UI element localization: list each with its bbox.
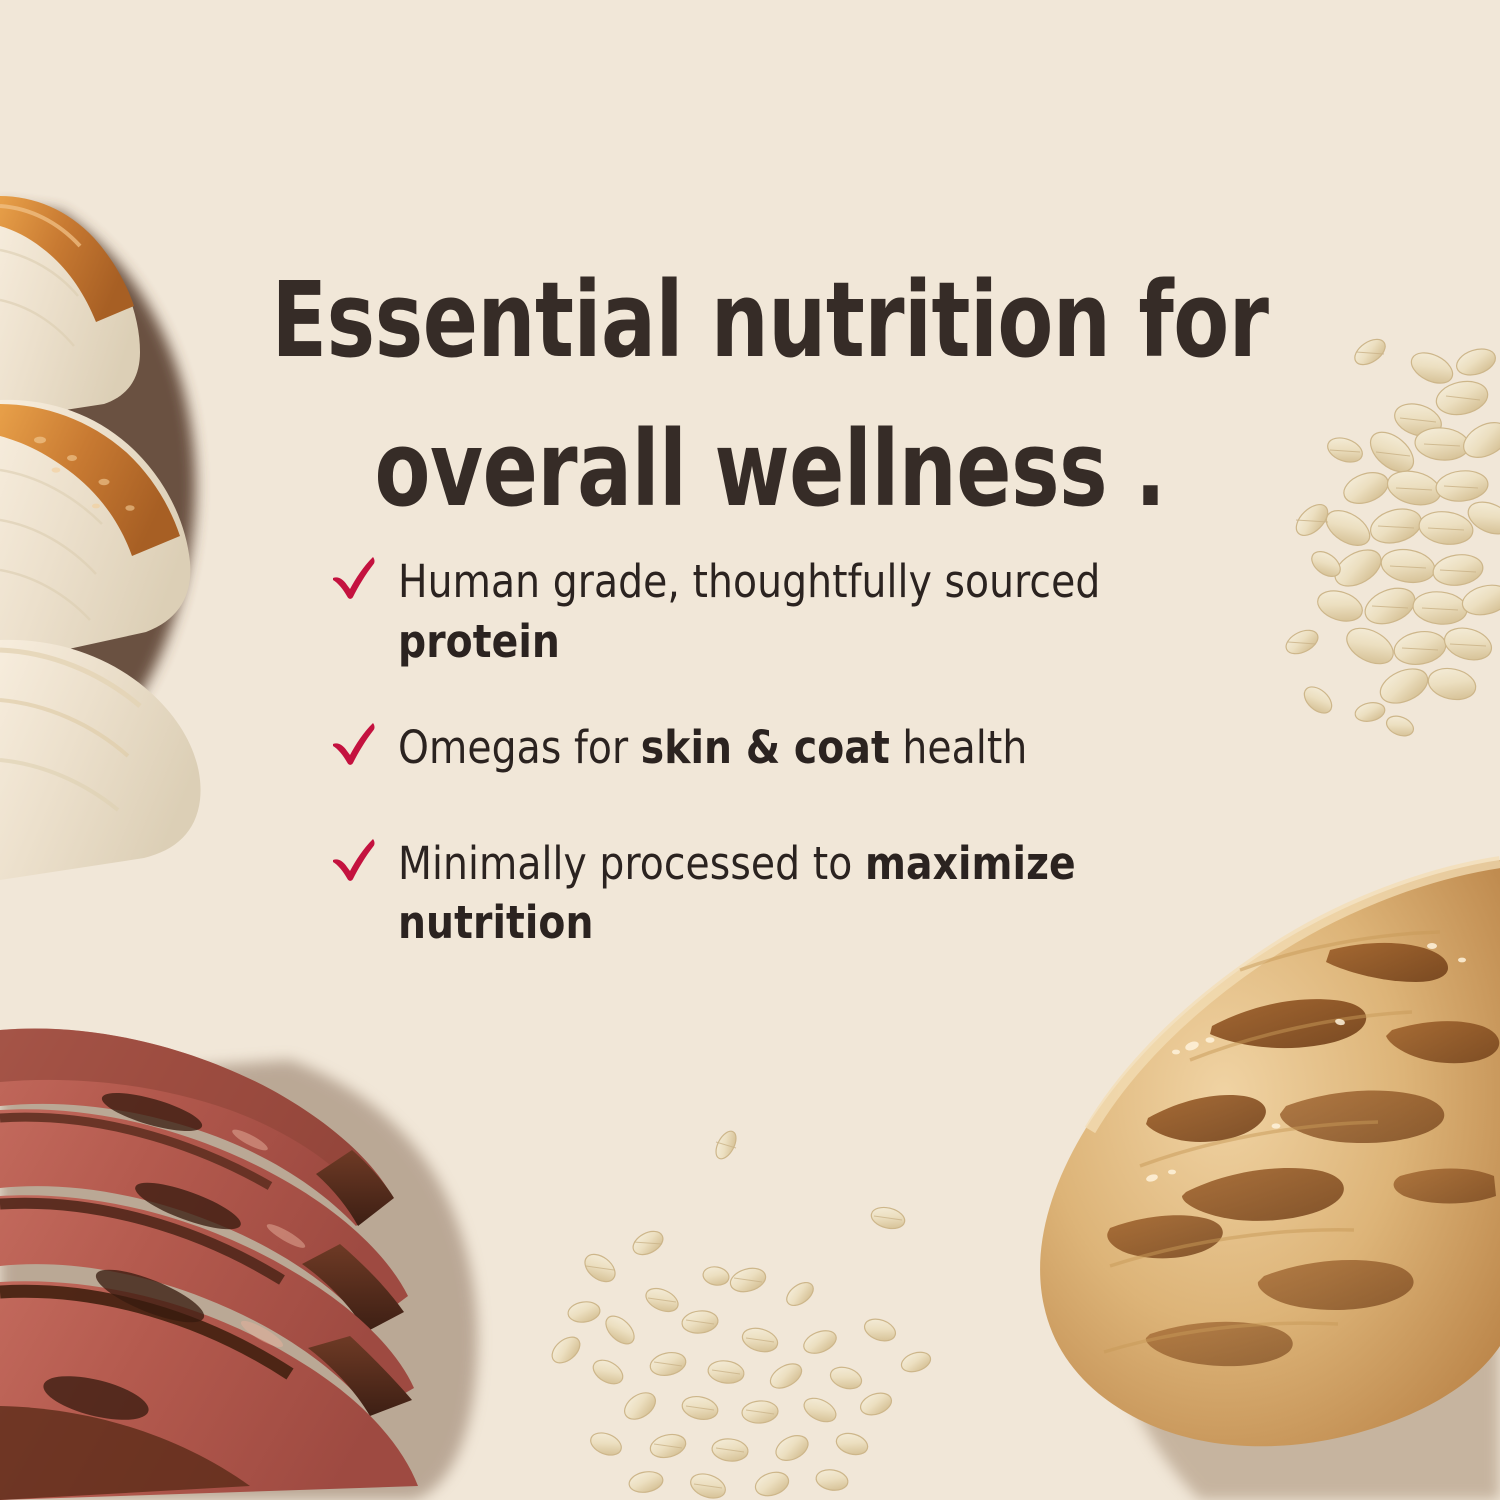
page-title: Essential nutrition foroverall wellness … — [257, 246, 1284, 546]
check-icon — [330, 718, 376, 770]
check-icon — [330, 552, 376, 604]
list-item-emphasis: skin & coat — [641, 721, 890, 774]
list-item-label: Minimally processed to maximize nutritio… — [398, 834, 1135, 954]
list-item: Omegas for skin & coat health — [330, 718, 1250, 778]
promo-banner: Essential nutrition foroverall wellness … — [0, 0, 1500, 1500]
list-item-lead: Omegas for — [398, 721, 641, 774]
list-item: Minimally processed to maximize nutritio… — [330, 834, 1250, 954]
list-item-lead: Minimally processed to — [398, 837, 865, 890]
list-item-emphasis: protein — [398, 615, 560, 668]
rolled-oats-pile-photo — [1282, 334, 1500, 739]
list-item-trail: health — [890, 721, 1027, 774]
list-item: Human grade, thoughtfully sourced protei… — [330, 552, 1250, 672]
check-icon — [330, 834, 376, 886]
page-title-line-1: Essential nutrition for — [257, 246, 1284, 396]
roast-pork-slices-photo — [0, 196, 201, 880]
list-item-label: Omegas for skin & coat health — [398, 718, 1027, 778]
list-item-label: Human grade, thoughtfully sourced protei… — [398, 552, 1135, 672]
page-title-line-2: overall wellness . — [257, 395, 1284, 545]
benefits-list: Human grade, thoughtfully sourced protei… — [330, 552, 1250, 999]
rolled-oats-scatter-photo — [547, 1128, 933, 1500]
list-item-lead: Human grade, thoughtfully sourced — [398, 555, 1100, 608]
sliced-beef-steak-photo — [0, 1028, 477, 1500]
